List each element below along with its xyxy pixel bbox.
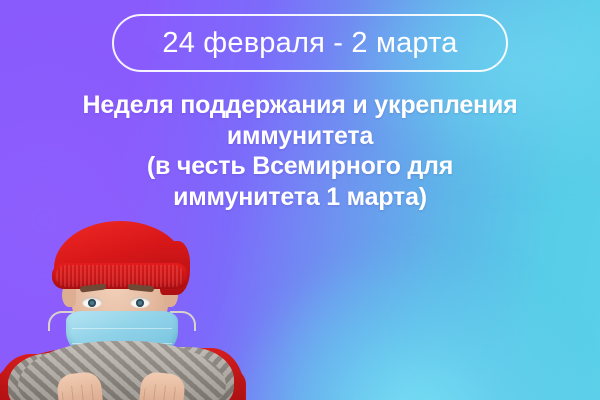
headline-line-4: иммунитета 1 марта) bbox=[22, 182, 578, 213]
beanie-brim bbox=[52, 263, 188, 289]
headline-line-2: иммунитета bbox=[22, 121, 578, 152]
pupil-left bbox=[88, 299, 96, 307]
date-range-text: 24 февраля - 2 марта bbox=[162, 29, 457, 58]
headline-line-3: (в честь Всемирного для bbox=[22, 151, 578, 182]
poster-canvas: 24 февраля - 2 марта Неделя поддержания … bbox=[0, 0, 600, 400]
pupil-right bbox=[136, 299, 144, 307]
background-glow-bottom-cyan bbox=[228, 248, 600, 400]
headline-line-1: Неделя поддержания и укрепления bbox=[22, 90, 578, 121]
headline: Неделя поддержания и укрепления иммуните… bbox=[0, 90, 600, 212]
date-range-pill: 24 февраля - 2 марта bbox=[112, 14, 508, 72]
person-photo bbox=[12, 215, 228, 400]
